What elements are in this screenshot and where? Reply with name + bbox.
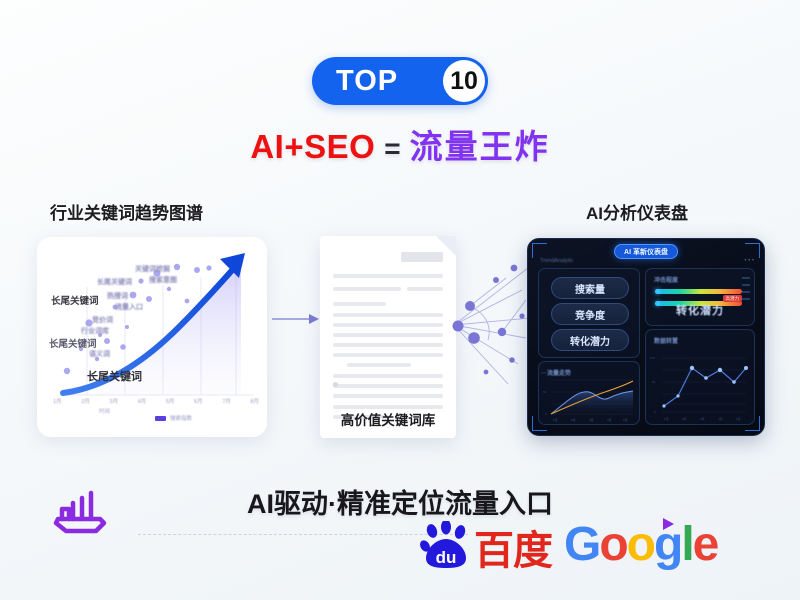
svg-text:100: 100 — [541, 371, 546, 375]
top-badge-rank: 10 — [450, 69, 478, 94]
network-graph — [452, 260, 532, 390]
top-badge-label: TOP — [336, 67, 398, 96]
section-label-right: AI分析仪表盘 — [586, 199, 688, 224]
title-left: AI+SEO — [250, 128, 375, 165]
axis-tick-7: 7月 — [222, 397, 231, 405]
gauge-ticks — [742, 277, 750, 300]
svg-text:2月: 2月 — [682, 417, 687, 421]
document-label: 高价值关键词库 — [320, 409, 456, 429]
trend-chart-xlabel: 时间 — [99, 407, 110, 415]
svg-text:4月: 4月 — [718, 417, 723, 421]
google-letter-5: l — [681, 523, 692, 566]
trend-chart-card: 长尾关键词 长尾关键词 长尾关键词 长尾关键词 关键词挖掘 搜索意图 流量入口 … — [37, 237, 267, 437]
title-operator: = — [384, 133, 400, 164]
svg-text:1月: 1月 — [553, 418, 558, 422]
svg-text:2月: 2月 — [571, 418, 576, 422]
axis-tick-5: 5月 — [166, 397, 175, 405]
page-title: AI+SEO=流量王炸 — [0, 128, 800, 166]
svg-text:0: 0 — [654, 410, 656, 414]
flow-arrow-icon — [272, 312, 320, 326]
line-chart-svg: 100500 1月2月3月 4月5月 — [646, 330, 754, 424]
title-right: 流量王炸 — [410, 128, 550, 165]
axis-tick-8: 8月 — [250, 397, 259, 405]
google-letter-2: o — [599, 523, 626, 566]
trend-chart-axis: 1月 2月 3月 4月 5月 6月 7月 8月 — [53, 397, 259, 405]
baidu-du-mark: du — [436, 548, 457, 567]
gauge-overlay-label: 转化潜力 — [646, 302, 754, 318]
svg-text:50: 50 — [543, 390, 547, 394]
gauge-marker-icon — [655, 289, 660, 294]
impact-gauge-panel: 冲击程度 高潜力 转化潜力 — [645, 268, 755, 326]
svg-text:5月: 5月 — [623, 418, 628, 422]
corner-bracket-icon — [532, 243, 547, 258]
google-logo: Google — [564, 523, 717, 566]
google-letter-1: G — [564, 523, 599, 566]
top-rank-badge: TOP 10 — [312, 57, 488, 105]
axis-tick-6: 6月 — [194, 397, 203, 405]
gauge-bar-1 — [656, 289, 742, 294]
area-chart-svg: 1月2月3月 4月5月 100500 — [539, 362, 639, 424]
metric-pills-panel: 搜索量 竞争度 转化潜力 — [538, 268, 640, 358]
ai-dashboard: AI 革新仪表盘 TrendAnalytic • • • 搜索量 竞争度 转化潜… — [527, 238, 765, 436]
axis-tick-2: 2月 — [81, 397, 90, 405]
baidu-label: 百度 — [474, 533, 552, 569]
doc-header-block — [401, 252, 443, 262]
google-letter-3: o — [627, 523, 654, 566]
top-badge-rank-circle: 10 — [443, 60, 485, 102]
doc-placeholder-lines — [333, 274, 443, 425]
gauge-tag: 高潜力 — [723, 295, 743, 302]
pill-competition[interactable]: 竞争度 — [551, 303, 629, 325]
infographic-canvas: TOP 10 AI+SEO=流量王炸 行业关键词趋势图谱 AI分析仪表盘 — [0, 0, 800, 600]
dashboard-title-badge: AI 革新仪表盘 — [614, 244, 678, 259]
svg-text:50: 50 — [652, 380, 656, 384]
section-label-left: 行业关键词趋势图谱 — [50, 199, 203, 224]
google-letter-6: e — [693, 523, 718, 566]
dashboard-menu-icon[interactable]: • • • — [744, 258, 754, 264]
legend-label: 搜索指数 — [170, 414, 192, 422]
baidu-logo: du 百度 — [420, 521, 552, 569]
footer-tagline: AI驱动·精准定位流量入口 — [0, 482, 800, 521]
svg-text:1月: 1月 — [664, 417, 669, 421]
keyword-library-document: 高价值关键词库 — [320, 236, 456, 438]
dashboard-brand: TrendAnalytic — [540, 258, 573, 264]
axis-tick-1: 1月 — [53, 397, 62, 405]
gauge-panel-title: 冲击程度 — [654, 275, 678, 284]
axis-tick-3: 3月 — [109, 397, 118, 405]
corner-bracket-icon — [745, 243, 760, 258]
search-engine-logos: du 百度 Google — [420, 521, 717, 569]
trend-chart-svg — [37, 237, 267, 437]
svg-text:5月: 5月 — [736, 417, 741, 421]
data-line-panel: 数据转置 100500 1月2月3月 — [645, 329, 755, 425]
svg-text:4月: 4月 — [607, 418, 612, 422]
divider — [138, 534, 468, 536]
play-triangle-icon — [660, 517, 676, 531]
pill-conversion[interactable]: 转化潜力 — [551, 329, 629, 351]
pill-search-volume[interactable]: 搜索量 — [551, 277, 629, 299]
baidu-paw-icon: du — [420, 521, 472, 569]
svg-text:0: 0 — [545, 412, 547, 416]
doc-bullet-icon — [333, 382, 338, 387]
legend-swatch-icon — [155, 416, 166, 421]
svg-text:3月: 3月 — [700, 417, 705, 421]
trend-chart-legend: 搜索指数 — [155, 414, 192, 422]
svg-text:3月: 3月 — [589, 418, 594, 422]
svg-text:100: 100 — [650, 356, 655, 360]
traffic-area-panel: 流量走势 1月2月3月 4月5月 — [538, 361, 640, 425]
axis-tick-4: 4月 — [138, 397, 147, 405]
